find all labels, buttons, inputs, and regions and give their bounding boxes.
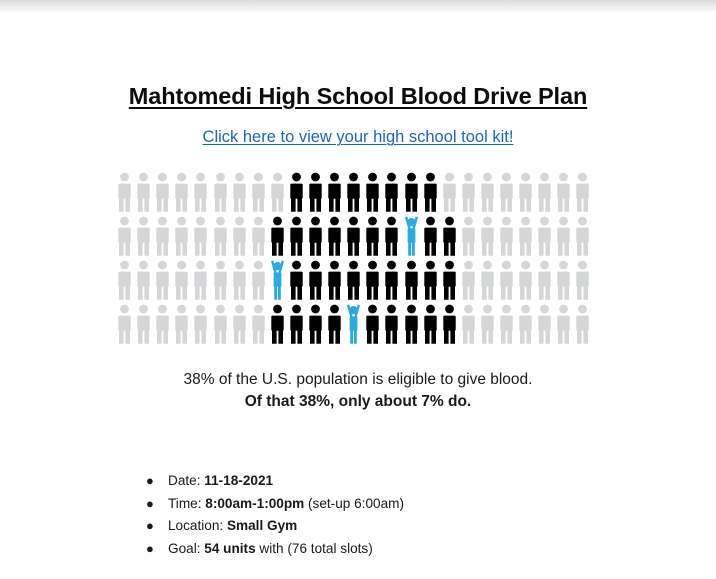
toolkit-link[interactable]: Click here to view your high school tool…: [203, 128, 514, 146]
person-inactive-icon: [192, 304, 209, 344]
person-eligible-icon: [364, 172, 381, 212]
document-page: Mahtomedi High School Blood Drive Plan C…: [0, 0, 716, 579]
list-item: ●Time: 8:00am-1:00pm (set-up 6:00am): [139, 493, 579, 516]
person-inactive-icon: [173, 260, 190, 300]
detail-label: Goal:: [168, 541, 204, 556]
person-eligible-icon: [326, 216, 343, 256]
detail-label: Time:: [168, 496, 205, 511]
person-inactive-icon: [574, 304, 591, 344]
person-eligible-icon: [307, 304, 324, 344]
person-inactive-icon: [536, 172, 553, 212]
person-inactive-icon: [460, 216, 477, 256]
person-inactive-icon: [250, 172, 267, 212]
person-inactive-icon: [574, 260, 591, 300]
person-inactive-icon: [574, 172, 591, 212]
person-inactive-icon: [460, 304, 477, 344]
person-inactive-icon: [555, 216, 572, 256]
list-item: ●Goal: 54 units with (76 total slots): [139, 538, 579, 561]
person-eligible-icon: [383, 260, 400, 300]
person-inactive-icon: [173, 304, 190, 344]
person-eligible-icon: [269, 216, 286, 256]
pictogram-row: [116, 260, 594, 304]
detail-suffix: with (76 total slots): [256, 541, 373, 556]
drive-details-list: ●Date: 11-18-2021●Time: 8:00am-1:00pm (s…: [139, 470, 579, 560]
person-inactive-icon: [555, 172, 572, 212]
person-eligible-icon: [288, 260, 305, 300]
person-eligible-icon: [422, 304, 439, 344]
person-inactive-icon: [479, 216, 496, 256]
pictogram-caption: 38% of the U.S. population is eligible t…: [0, 369, 716, 414]
bullet-icon: ●: [146, 515, 154, 538]
person-eligible-icon: [441, 304, 458, 344]
person-eligible-icon: [441, 260, 458, 300]
pictogram-row: [116, 172, 594, 216]
person-inactive-icon: [192, 216, 209, 256]
person-eligible-icon: [288, 304, 305, 344]
person-inactive-icon: [192, 260, 209, 300]
person-inactive-icon: [479, 172, 496, 212]
person-inactive-icon: [116, 172, 133, 212]
person-inactive-icon: [135, 304, 152, 344]
caption-line-2: Of that 38%, only about 7% do.: [0, 391, 716, 413]
person-eligible-icon: [441, 216, 458, 256]
person-inactive-icon: [231, 304, 248, 344]
detail-label: Date:: [168, 473, 204, 488]
person-inactive-icon: [116, 260, 133, 300]
person-eligible-icon: [403, 172, 420, 212]
caption-line-1: 38% of the U.S. population is eligible t…: [184, 371, 533, 388]
page-title-text: Mahtomedi High School Blood Drive Plan: [129, 83, 587, 109]
person-inactive-icon: [479, 304, 496, 344]
person-inactive-icon: [269, 172, 286, 212]
person-eligible-icon: [345, 172, 362, 212]
detail-value: 54 units: [204, 541, 255, 556]
person-inactive-icon: [250, 304, 267, 344]
person-inactive-icon: [212, 304, 229, 344]
person-inactive-icon: [517, 260, 534, 300]
person-inactive-icon: [231, 216, 248, 256]
person-inactive-icon: [555, 260, 572, 300]
person-inactive-icon: [250, 260, 267, 300]
detail-value: Small Gym: [227, 518, 297, 533]
bullet-icon: ●: [146, 470, 154, 493]
person-eligible-icon: [422, 216, 439, 256]
person-eligible-icon: [403, 260, 420, 300]
person-inactive-icon: [536, 216, 553, 256]
person-inactive-icon: [135, 172, 152, 212]
person-inactive-icon: [517, 216, 534, 256]
detail-value: 11-18-2021: [204, 473, 273, 488]
toolkit-link-row: Click here to view your high school tool…: [0, 128, 716, 147]
person-inactive-icon: [231, 260, 248, 300]
person-inactive-icon: [498, 260, 515, 300]
person-eligible-icon: [288, 172, 305, 212]
person-inactive-icon: [154, 216, 171, 256]
person-eligible-icon: [269, 304, 286, 344]
detail-label: Location:: [168, 518, 227, 533]
person-eligible-icon: [307, 216, 324, 256]
person-eligible-icon: [422, 172, 439, 212]
list-item: ●Date: 11-18-2021: [139, 470, 579, 493]
list-item: ●Location: Small Gym: [139, 515, 579, 538]
page-title: Mahtomedi High School Blood Drive Plan: [0, 83, 716, 110]
person-inactive-icon: [517, 172, 534, 212]
person-inactive-icon: [173, 172, 190, 212]
person-donor-icon: [345, 304, 362, 344]
person-eligible-icon: [383, 216, 400, 256]
person-inactive-icon: [460, 172, 477, 212]
person-eligible-icon: [307, 172, 324, 212]
person-inactive-icon: [135, 260, 152, 300]
person-inactive-icon: [250, 216, 267, 256]
person-inactive-icon: [154, 260, 171, 300]
person-inactive-icon: [154, 304, 171, 344]
person-inactive-icon: [536, 304, 553, 344]
person-eligible-icon: [383, 304, 400, 344]
person-eligible-icon: [383, 172, 400, 212]
person-donor-icon: [403, 216, 420, 256]
person-inactive-icon: [135, 216, 152, 256]
person-inactive-icon: [498, 304, 515, 344]
person-inactive-icon: [154, 172, 171, 212]
person-inactive-icon: [116, 304, 133, 344]
person-inactive-icon: [517, 304, 534, 344]
eligibility-pictogram: [116, 172, 594, 350]
person-eligible-icon: [364, 304, 381, 344]
person-inactive-icon: [536, 260, 553, 300]
person-inactive-icon: [212, 260, 229, 300]
person-inactive-icon: [441, 172, 458, 212]
bullet-icon: ●: [146, 538, 154, 561]
person-inactive-icon: [116, 216, 133, 256]
person-eligible-icon: [288, 216, 305, 256]
person-inactive-icon: [498, 172, 515, 212]
person-eligible-icon: [345, 216, 362, 256]
person-eligible-icon: [364, 216, 381, 256]
person-inactive-icon: [231, 172, 248, 212]
person-inactive-icon: [460, 260, 477, 300]
person-inactive-icon: [212, 172, 229, 212]
person-inactive-icon: [555, 304, 572, 344]
detail-suffix: (set-up 6:00am): [304, 496, 404, 511]
detail-value: 8:00am-1:00pm: [205, 496, 304, 511]
person-eligible-icon: [422, 260, 439, 300]
pictogram-row: [116, 304, 594, 348]
person-inactive-icon: [173, 216, 190, 256]
person-eligible-icon: [326, 172, 343, 212]
person-eligible-icon: [364, 260, 381, 300]
person-inactive-icon: [498, 216, 515, 256]
person-eligible-icon: [403, 304, 420, 344]
person-inactive-icon: [479, 260, 496, 300]
person-eligible-icon: [345, 260, 362, 300]
person-inactive-icon: [192, 172, 209, 212]
person-donor-icon: [269, 260, 286, 300]
person-inactive-icon: [212, 216, 229, 256]
pictogram-row: [116, 216, 594, 260]
person-eligible-icon: [307, 260, 324, 300]
person-eligible-icon: [326, 304, 343, 344]
person-inactive-icon: [574, 216, 591, 256]
person-eligible-icon: [326, 260, 343, 300]
bullet-icon: ●: [146, 493, 154, 516]
